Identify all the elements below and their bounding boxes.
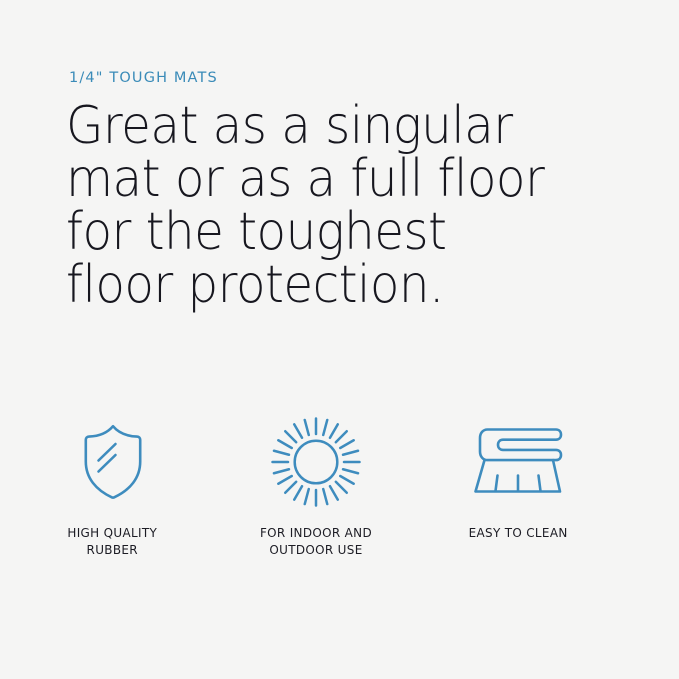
headline-line-4: floor protection.: [66, 259, 587, 312]
feature-caption: EASY TO CLEAN: [469, 524, 568, 541]
feature-caption: HIGH QUALITY RUBBER: [68, 524, 158, 558]
headline-line-1: Great as a singular: [66, 100, 587, 153]
feature-caption: FOR INDOOR AND OUTDOOR USE: [259, 524, 371, 558]
shield-icon: [77, 414, 149, 510]
product-feature-graphic: 1/4" TOUGH MATS Great as a singular mat …: [0, 0, 679, 679]
feature-item-easy-to-clean: EASY TO CLEAN: [417, 414, 620, 541]
headline-line-3: for the toughest: [66, 206, 587, 259]
feature-list: HIGH QUALITY RUBBER: [0, 414, 679, 558]
brush-icon: [473, 414, 565, 510]
feature-item-indoor-outdoor: FOR INDOOR AND OUTDOOR USE: [214, 414, 417, 558]
page-title: Great as a singular mat or as a full flo…: [66, 100, 626, 312]
headline-line-2: mat or as a full floor: [66, 153, 587, 206]
feature-item-high-quality-rubber: HIGH QUALITY RUBBER: [11, 414, 214, 558]
sun-icon: [269, 414, 363, 510]
eyebrow-label: 1/4" TOUGH MATS: [69, 68, 218, 89]
